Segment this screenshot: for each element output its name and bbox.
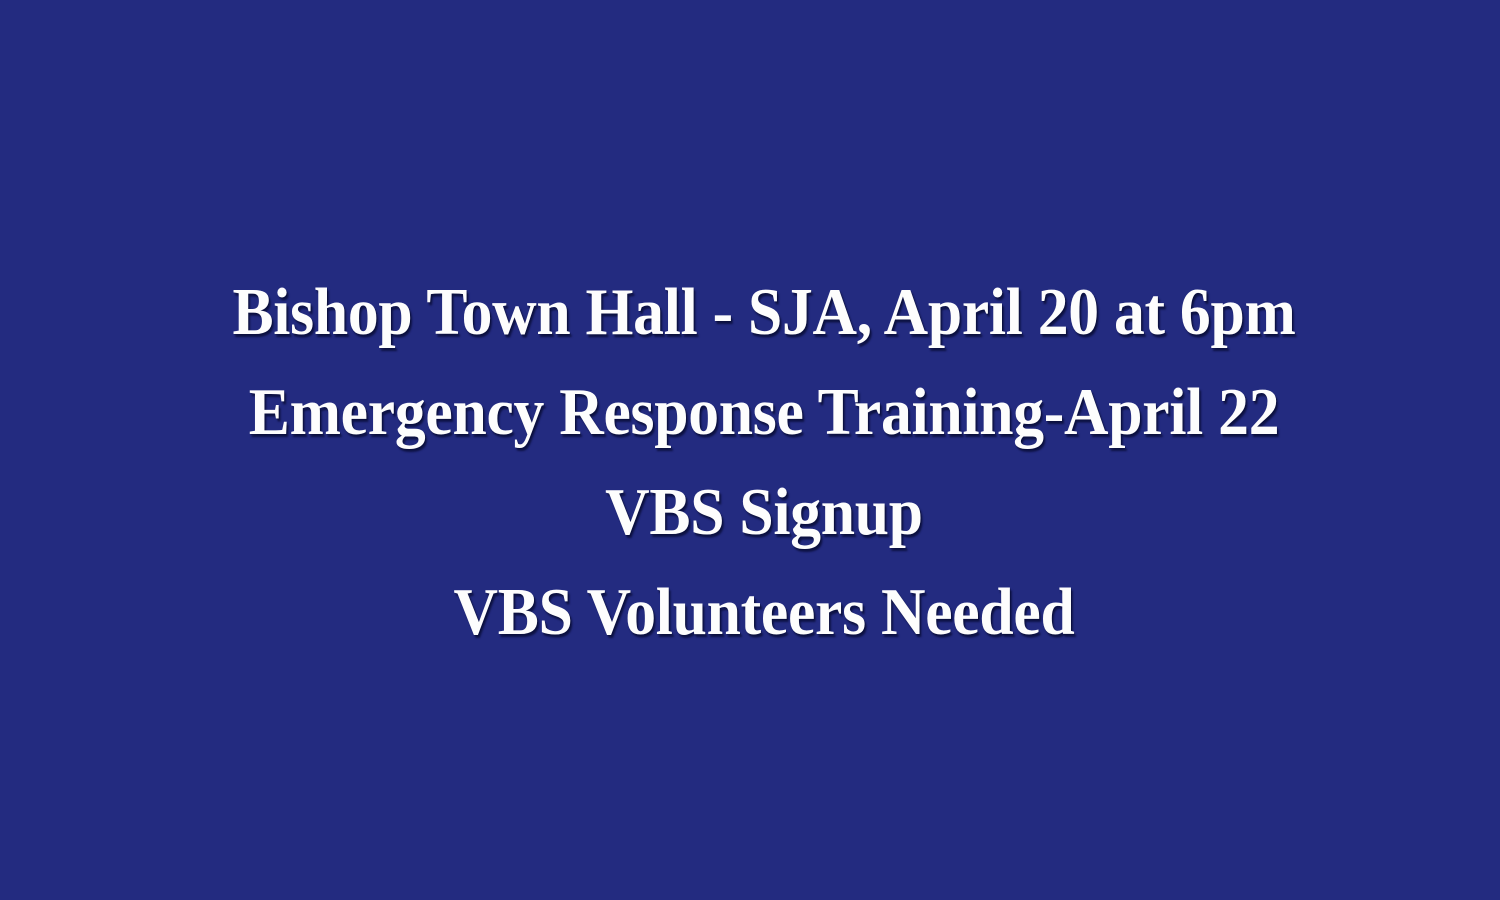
announcement-line-4: VBS Volunteers Needed bbox=[87, 562, 1441, 662]
announcement-line-3: VBS Signup bbox=[87, 462, 1441, 562]
announcement-list: Bishop Town Hall - SJA, April 20 at 6pm … bbox=[0, 262, 1500, 662]
announcement-line-1: Bishop Town Hall - SJA, April 20 at 6pm bbox=[87, 262, 1441, 362]
announcement-slide: Bishop Town Hall - SJA, April 20 at 6pm … bbox=[0, 0, 1500, 900]
announcement-line-2: Emergency Response Training-April 22 bbox=[87, 362, 1441, 462]
